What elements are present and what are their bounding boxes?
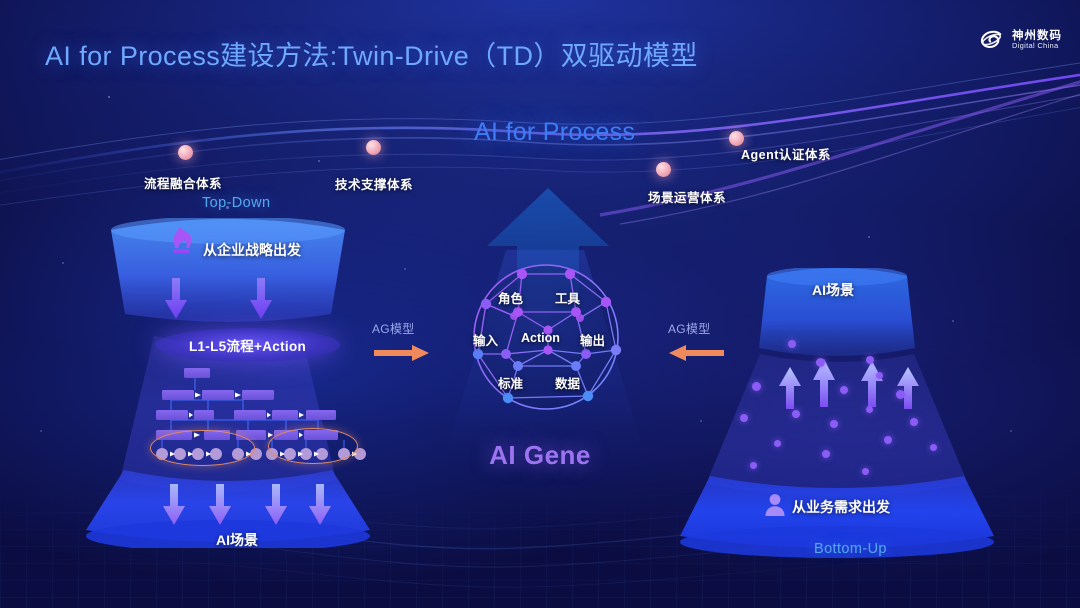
- floating-dot: [822, 450, 830, 458]
- gene-node-label-data: 数据: [555, 373, 580, 392]
- gene-node-label-tool: 工具: [555, 288, 580, 307]
- brand-logo: 神州数码 Digital China: [978, 26, 1062, 53]
- gene-node-label-output: 输出: [580, 330, 605, 349]
- highlight-ellipse-1: [150, 430, 255, 466]
- down-arrow-icon: [249, 278, 273, 320]
- down-arrow-icon: [208, 484, 232, 526]
- particle: [40, 430, 42, 432]
- gene-node-label-standard: 标准: [498, 373, 523, 392]
- floating-dot: [740, 414, 748, 422]
- floating-dot: [910, 418, 918, 426]
- particle: [404, 268, 406, 270]
- right-funnel-top-label: AI场景: [812, 280, 854, 300]
- down-arrow-icon: [308, 484, 332, 526]
- logo-name-en: Digital China: [1012, 42, 1062, 50]
- ai-for-process-title: AI for Process: [474, 118, 635, 147]
- l1-l5-pill: L1-L5流程+Action: [155, 328, 340, 362]
- arc-node-dot-3: [656, 162, 671, 177]
- floating-dot: [866, 406, 873, 413]
- floating-dot: [816, 358, 825, 367]
- slide-canvas: AI for Process建设方法:Twin-Drive（TD）双驱动模型 神…: [0, 0, 1080, 608]
- ag-arrow-right-icon: [374, 344, 430, 362]
- floating-dot: [792, 410, 800, 418]
- floating-dot: [752, 382, 761, 391]
- chess-knight-icon: [170, 226, 194, 256]
- floating-dot: [774, 440, 781, 447]
- arc-label-2: 技术支撑体系: [335, 174, 413, 193]
- up-arrow-icon: [778, 366, 802, 410]
- arc-node-dot-1: [178, 145, 193, 160]
- floating-dot: [830, 420, 838, 428]
- floating-dot: [884, 436, 892, 444]
- down-arrow-icon: [164, 278, 188, 320]
- particle: [318, 160, 320, 162]
- up-arrow-icon: [860, 360, 884, 408]
- logo-name-cn: 神州数码: [1012, 30, 1062, 42]
- gene-node-label-input: 输入: [473, 330, 498, 349]
- highlight-ellipse-2: [268, 428, 358, 464]
- particle: [868, 236, 870, 238]
- floating-dot: [862, 468, 869, 475]
- swirl-icon: [978, 26, 1005, 53]
- floating-dot: [876, 372, 883, 379]
- arc-node-dot-2: [366, 140, 381, 155]
- floating-dot: [840, 386, 848, 394]
- up-arrow-icon: [896, 366, 920, 410]
- right-funnel-bottom-label: 从业务需求出发: [792, 497, 890, 517]
- particle: [62, 262, 64, 264]
- arc-label-3: 场景运营体系: [648, 187, 726, 206]
- particle: [1010, 430, 1012, 432]
- arc-label-1: 流程融合体系: [144, 173, 222, 192]
- gene-node-label-action: Action: [521, 331, 560, 345]
- floating-dot: [788, 340, 796, 348]
- floating-dot: [866, 356, 874, 364]
- gene-node-label-role: 角色: [498, 288, 523, 307]
- arc-label-4: Agent认证体系: [741, 144, 831, 163]
- floating-dot: [750, 462, 757, 469]
- down-arrow-icon: [162, 484, 186, 526]
- ag-model-label-left: AG模型: [372, 320, 415, 337]
- left-funnel-top-label: 从企业战略出发: [203, 240, 301, 260]
- ai-gene-sphere: 角色 工具 输入 Action 输出 标准 数据: [460, 258, 632, 416]
- particle: [108, 96, 110, 98]
- l1-l5-pill-label: L1-L5流程+Action: [189, 335, 306, 355]
- down-arrow-icon: [264, 484, 288, 526]
- floating-dot: [896, 390, 905, 399]
- person-icon: [764, 493, 786, 516]
- floating-dot: [930, 444, 937, 451]
- page-title: AI for Process建设方法:Twin-Drive（TD）双驱动模型: [45, 34, 698, 73]
- up-arrow-icon: [812, 358, 836, 408]
- left-funnel-bottom-label: AI场景: [216, 530, 258, 550]
- right-direction-caption: Bottom-Up: [814, 541, 887, 557]
- left-direction-caption: Top-Down: [202, 195, 270, 211]
